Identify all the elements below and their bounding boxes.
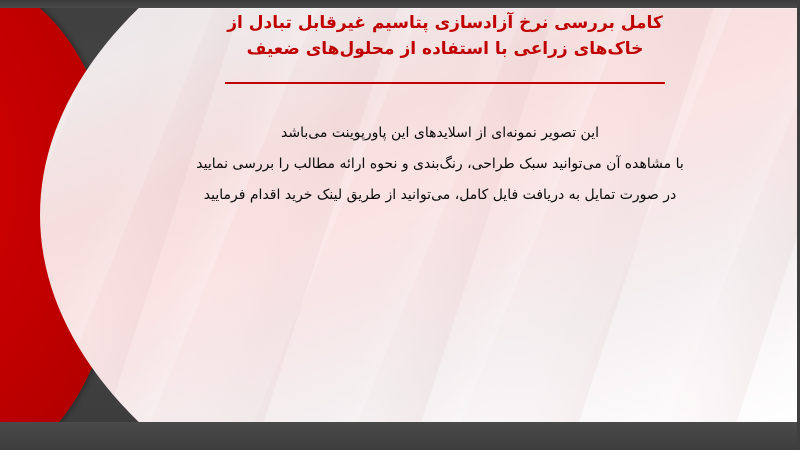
slide-body-text: این تصویر نمونه‌ای از اسلایدهای این پاور…	[140, 118, 740, 210]
slide-body-line-2: با مشاهده آن می‌توانید سبک طراحی، رنگ‌بن…	[140, 149, 740, 180]
slide-body-line-1: این تصویر نمونه‌ای از اسلایدهای این پاور…	[140, 118, 740, 149]
slide-title-line-1: کامل بررسی نرخ آزادسازی پتاسیم غیرقابل ت…	[150, 10, 740, 36]
slide-title: کامل بررسی نرخ آزادسازی پتاسیم غیرقابل ت…	[150, 10, 740, 63]
slide-body-line-3: در صورت تمایل به دریافت فایل کامل، می‌تو…	[140, 180, 740, 211]
slide-text-layer: کامل بررسی نرخ آزادسازی پتاسیم غیرقابل ت…	[0, 0, 800, 450]
slide-title-line-2: خاک‌های زراعی با استفاده از محلول‌های ضع…	[150, 36, 740, 62]
title-divider-rule	[225, 82, 665, 84]
presentation-slide: کامل بررسی نرخ آزادسازی پتاسیم غیرقابل ت…	[0, 0, 800, 450]
